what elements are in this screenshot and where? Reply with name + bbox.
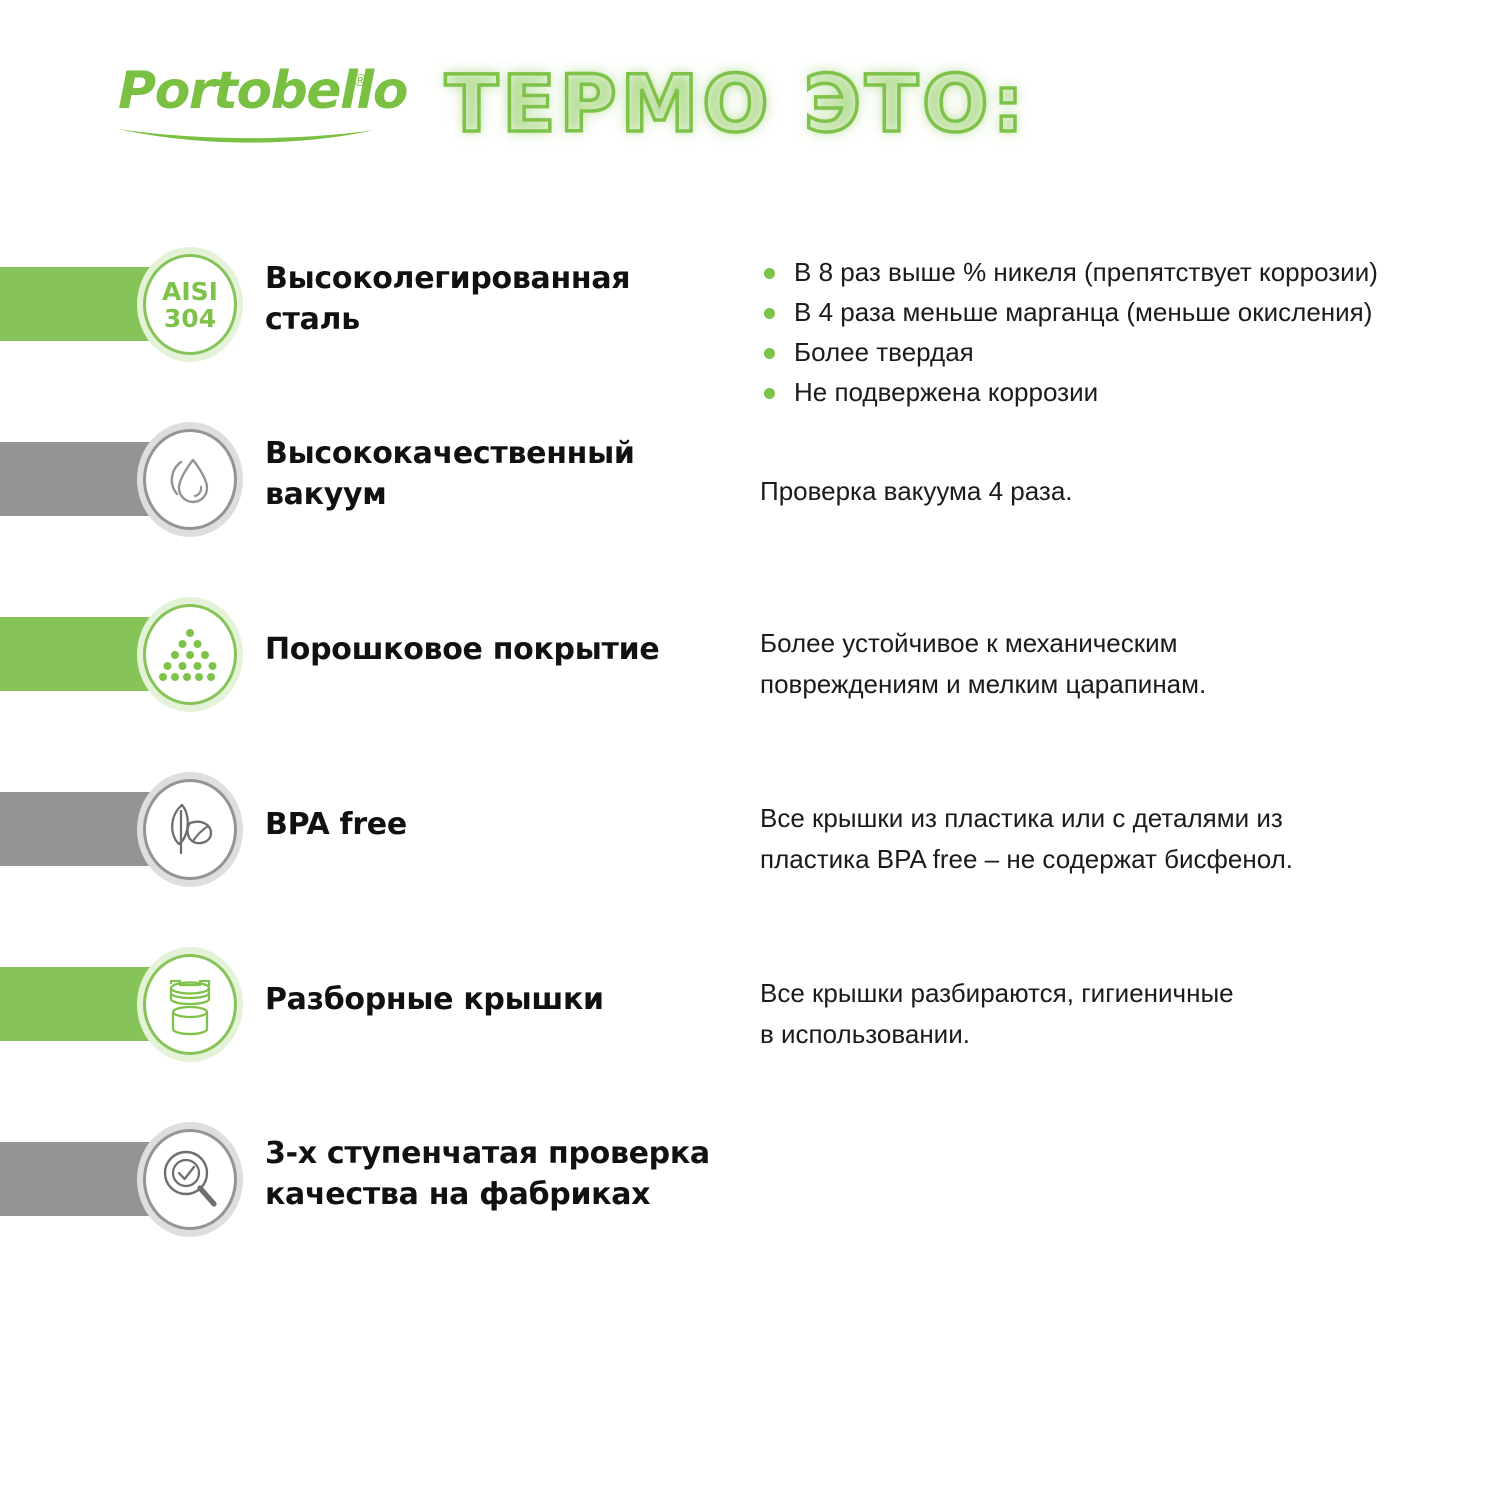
description-line: Более устойчивое к механическим: [760, 623, 1490, 664]
badge-vacuum: [137, 422, 243, 537]
header: Portobello ® ТЕРМО ЭТО:: [0, 55, 1500, 165]
list-item: В 8 раз выше % никеля (препятствует корр…: [760, 252, 1500, 292]
feature-bullet-list: В 8 раз выше % никеля (препятствует корр…: [760, 252, 1500, 412]
description-line: Все крышки из пластика или с деталями из: [760, 798, 1490, 839]
feature-row-lids: Разборные крышки Все крышки разбираются,…: [0, 930, 1500, 1105]
description-line: Проверка вакуума 4 раза.: [760, 471, 1490, 512]
magnifier-check-icon: [158, 1148, 222, 1212]
badge-disc: [143, 429, 237, 530]
feature-title-line-1: Высококачественный: [265, 433, 735, 474]
feature-title-line-2: сталь: [265, 299, 735, 340]
feature-row-quality-check: 3-х ступенчатая проверка качества на фаб…: [0, 1105, 1500, 1280]
brand-wordmark: Portobello: [118, 65, 388, 117]
feature-title: Разборные крышки: [265, 979, 735, 1020]
badge-disc: [143, 604, 237, 705]
feature-row-steel: AISI 304 Высоколегированная сталь В 8 ра…: [0, 230, 1500, 405]
feature-row-powder: Порошковое покрытие Более устойчивое к м…: [0, 580, 1500, 755]
feature-description: Более устойчивое к механическим поврежде…: [760, 623, 1490, 705]
list-item: В 4 раза меньше марганца (меньше окислен…: [760, 292, 1500, 332]
feature-title: Высоколегированная сталь: [265, 258, 735, 340]
aisi-label: AISI: [162, 278, 218, 305]
powder-dots-icon: [159, 626, 221, 684]
feature-title: Порошковое покрытие: [265, 629, 735, 670]
page-title: ТЕРМО ЭТО:: [445, 55, 1028, 155]
feature-title: BPA free: [265, 804, 735, 845]
badge-lids: [137, 947, 243, 1062]
badge-bpa-free: [137, 772, 243, 887]
feature-title: 3-х ступенчатая проверка качества на фаб…: [265, 1133, 735, 1215]
list-item: Более твердая: [760, 332, 1500, 372]
badge-disc: AISI 304: [143, 254, 237, 355]
swoosh-icon: [118, 127, 376, 149]
feature-title-line-2: качества на фабриках: [265, 1174, 735, 1215]
feature-title-line-1: Разборные крышки: [265, 979, 735, 1020]
badge-disc: [143, 1129, 237, 1230]
feature-description: Проверка вакуума 4 раза.: [760, 471, 1490, 512]
description-line: повреждениям и мелким царапинам.: [760, 664, 1490, 705]
aisi-304-icon: AISI 304: [162, 278, 218, 332]
feature-title-line-1: BPA free: [265, 804, 735, 845]
feature-title-line-1: Порошковое покрытие: [265, 629, 735, 670]
badge-aisi-304: AISI 304: [137, 247, 243, 362]
description-line: в использовании.: [760, 1014, 1490, 1055]
water-drop-icon: [160, 450, 220, 510]
infographic-page: Portobello ® ТЕРМО ЭТО: AISI 304: [0, 0, 1500, 1500]
lid-icon: [157, 972, 223, 1038]
description-line: Все крышки разбираются, гигиеничные: [760, 973, 1490, 1014]
feature-title-line-2: вакуум: [265, 474, 735, 515]
feature-title-line-1: 3-х ступенчатая проверка: [265, 1133, 735, 1174]
feature-list: AISI 304 Высоколегированная сталь В 8 ра…: [0, 230, 1500, 1280]
feature-title: Высококачественный вакуум: [265, 433, 735, 515]
feature-row-vacuum: Высококачественный вакуум Проверка вакуу…: [0, 405, 1500, 580]
feature-row-bpa-free: BPA free Все крышки из пластика или с де…: [0, 755, 1500, 930]
portobello-logo: Portobello ®: [118, 65, 388, 165]
feature-description: Все крышки из пластика или с деталями из…: [760, 798, 1490, 880]
aisi-grade: 304: [162, 305, 218, 332]
badge-disc: [143, 954, 237, 1055]
description-line: пластика BPA free – не содержат бисфенол…: [760, 839, 1490, 880]
feature-description: Все крышки разбираются, гигиеничные в ис…: [760, 973, 1490, 1055]
badge-powder: [137, 597, 243, 712]
badge-disc: [143, 779, 237, 880]
registered-trademark-icon: ®: [354, 71, 367, 91]
leaf-icon: [159, 799, 221, 861]
feature-title-line-1: Высоколегированная: [265, 258, 735, 299]
badge-quality-check: [137, 1122, 243, 1237]
